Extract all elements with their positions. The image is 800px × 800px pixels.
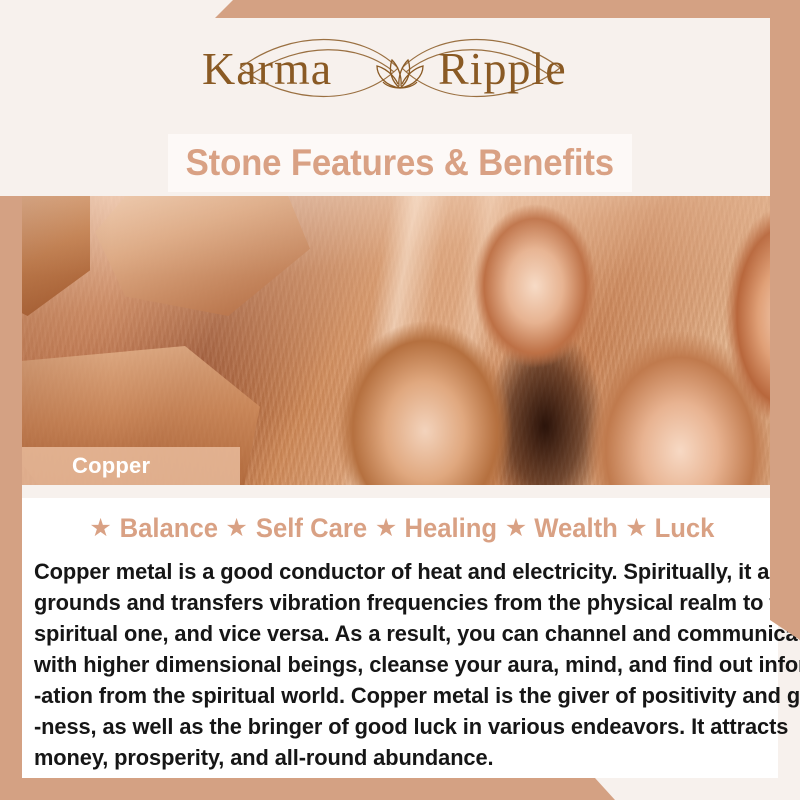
description-text: Copper metal is a good conductor of heat… <box>34 556 744 773</box>
decor-band-top-right <box>215 0 800 18</box>
feature-item-balance: Balance <box>119 513 217 544</box>
star-icon: ★ <box>89 516 111 541</box>
hero-caption-label: Copper <box>72 453 150 479</box>
description-line: -ness, as well as the bringer of good lu… <box>34 711 744 742</box>
brand-logo-svg: Karma Ripple <box>180 24 620 120</box>
feature-item-luck: Luck <box>654 513 714 544</box>
brand-word-left: Karma <box>202 43 332 94</box>
infographic-canvas: Karma Ripple Stone Features & Benefits C… <box>0 0 800 800</box>
hero-image: Copper <box>0 196 800 485</box>
description-line: Copper metal is a good conductor of heat… <box>34 556 744 587</box>
decor-band-left <box>0 196 22 800</box>
brand-logo: Karma Ripple <box>0 24 800 120</box>
brand-word-right: Ripple <box>438 43 567 94</box>
description-line: spiritual one, and vice versa. As a resu… <box>34 618 744 649</box>
feature-list: ★Balance★Self Care★Healing★Wealth★Luck <box>22 498 778 552</box>
description-line: grounds and transfers vibration frequenc… <box>34 587 744 618</box>
feature-item-wealth: Wealth <box>534 513 618 544</box>
star-icon: ★ <box>375 516 397 541</box>
description-line: money, prosperity, and all-round abundan… <box>34 742 744 773</box>
headline-band: Stone Features & Benefits <box>168 134 632 192</box>
hero-image-texture <box>0 196 800 485</box>
hero-caption-plate: Copper <box>22 447 240 485</box>
description-line: with higher dimensional beings, cleanse … <box>34 649 744 680</box>
content-panel: ★Balance★Self Care★Healing★Wealth★Luck C… <box>22 498 778 778</box>
star-icon: ★ <box>505 516 527 541</box>
hero-image-shading <box>0 196 800 485</box>
description-line: -ation from the spiritual world. Copper … <box>34 680 744 711</box>
feature-item-healing: Healing <box>405 513 498 544</box>
star-icon: ★ <box>225 516 247 541</box>
feature-item-self-care: Self Care <box>256 513 367 544</box>
page-title: Stone Features & Benefits <box>186 142 614 184</box>
star-icon: ★ <box>625 516 647 541</box>
decor-band-bottom-left <box>0 778 615 800</box>
